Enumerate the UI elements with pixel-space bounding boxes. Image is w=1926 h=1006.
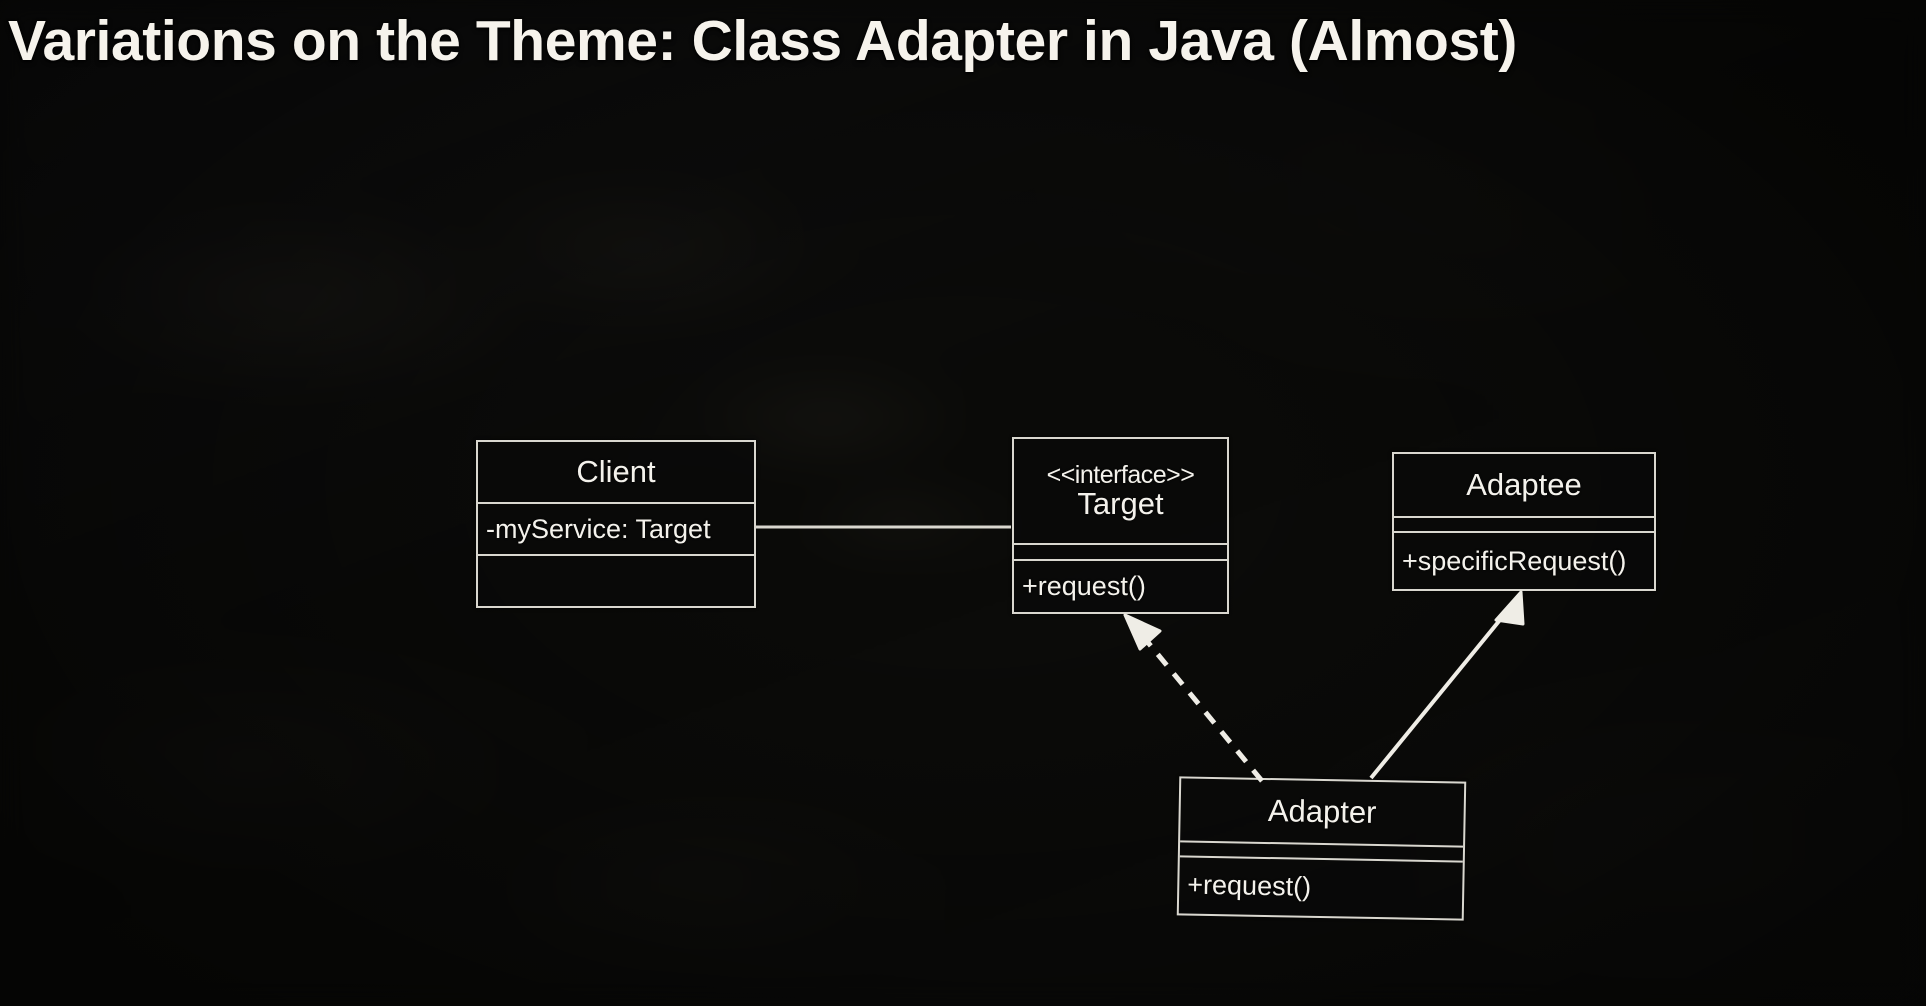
uml-class-client[interactable]: Client -myService: Target (476, 440, 756, 608)
slide-canvas: Variations on the Theme: Class Adapter i… (0, 0, 1926, 1006)
class-name-compartment: Adapter (1180, 778, 1464, 845)
class-attributes-compartment: -myService: Target (478, 502, 754, 554)
uml-interface-target[interactable]: <<interface>> Target +request() (1012, 437, 1229, 614)
operation-label: +request() (1187, 870, 1311, 901)
class-name-label: Adaptee (1466, 469, 1582, 502)
class-name-compartment: <<interface>> Target (1014, 439, 1227, 543)
class-name-label: Client (576, 456, 655, 489)
class-operations-compartment: +specificRequest() (1394, 531, 1654, 589)
class-operations-compartment (478, 554, 754, 606)
page-title: Variations on the Theme: Class Adapter i… (8, 8, 1918, 74)
uml-class-adapter[interactable]: Adapter +request() (1177, 776, 1466, 920)
class-operations-compartment: +request() (1179, 855, 1463, 916)
stereotype-label: <<interface>> (1047, 462, 1195, 488)
uml-class-adaptee[interactable]: Adaptee +specificRequest() (1392, 452, 1656, 591)
operation-label: +request() (1022, 572, 1146, 600)
operation-label: +specificRequest() (1402, 547, 1626, 575)
class-operations-compartment: +request() (1014, 559, 1227, 612)
class-name-label: Adapter (1268, 795, 1377, 830)
class-name-label: Target (1077, 488, 1163, 521)
class-name-compartment: Adaptee (1394, 454, 1654, 516)
class-name-compartment: Client (478, 442, 754, 502)
class-attributes-compartment (1014, 543, 1227, 559)
attribute-label: -myService: Target (486, 515, 711, 543)
class-attributes-compartment (1394, 516, 1654, 531)
